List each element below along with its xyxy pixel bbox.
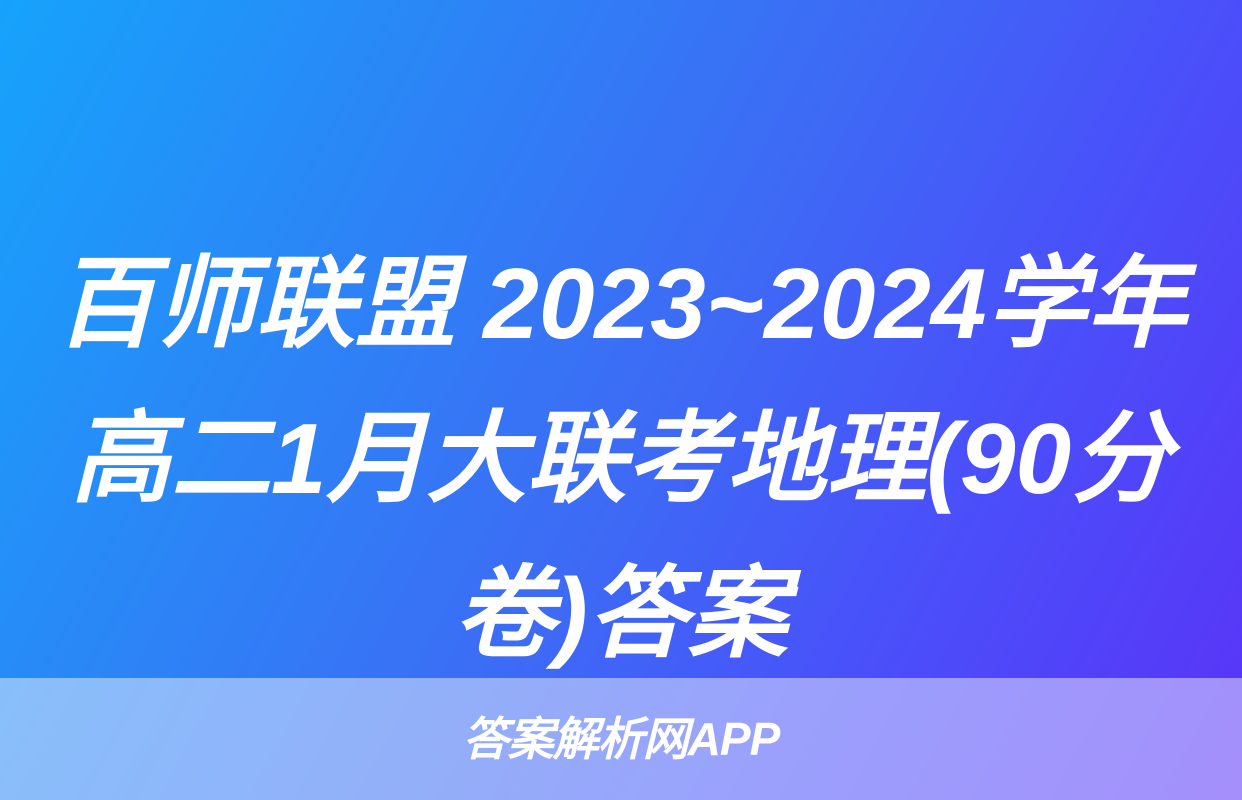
- app-watermark: 答案解析网APP: [0, 714, 1242, 764]
- footer-band: 答案解析网APP: [0, 678, 1242, 800]
- poster-canvas: 百师联盟 2023~2024学年高二1月大联考地理(90分卷)答案 答案解析网A…: [0, 0, 1242, 800]
- page-title: 百师联盟 2023~2024学年高二1月大联考地理(90分卷)答案: [0, 227, 1242, 692]
